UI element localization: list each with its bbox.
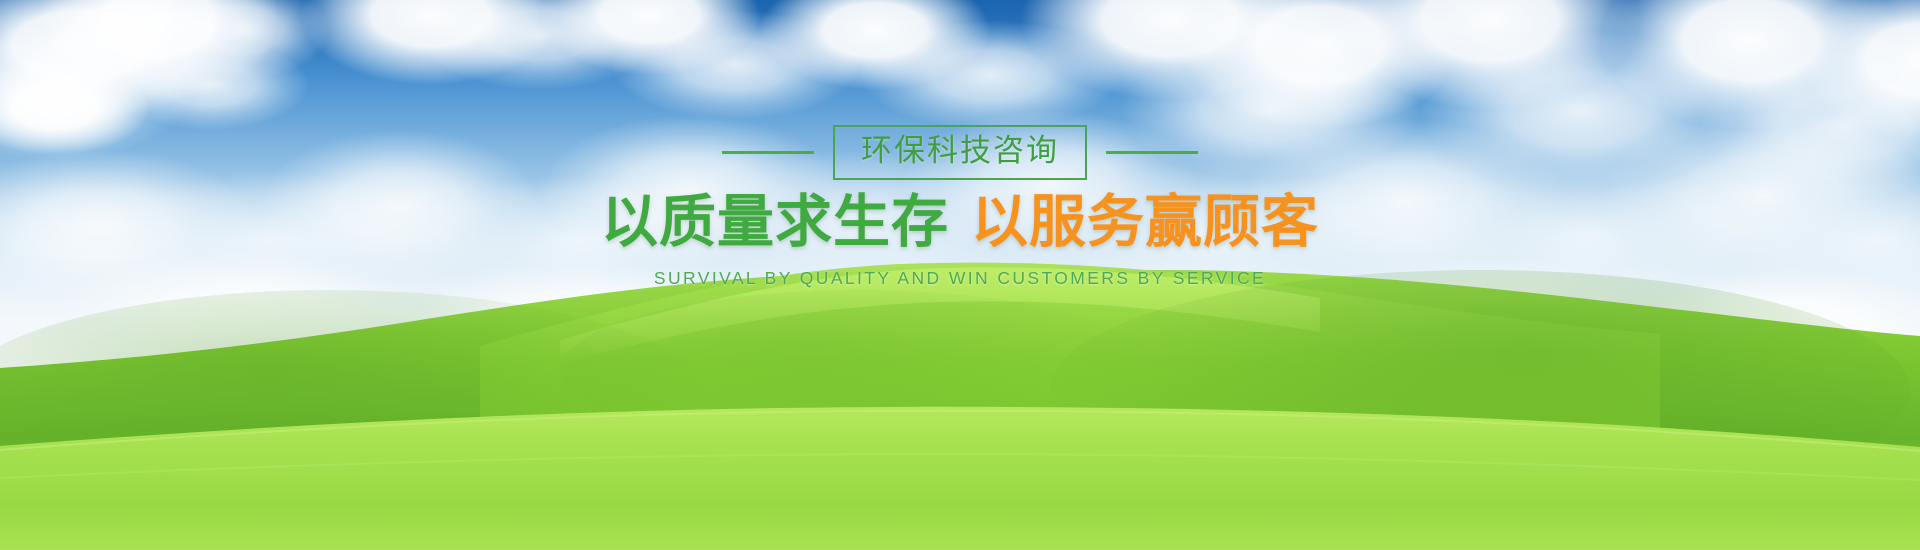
grass-landscape: [0, 250, 1920, 550]
hero-banner: 环保科技咨询 以质量求生存以服务赢顾客 SURVIVAL BY QUALITY …: [0, 0, 1920, 550]
grass-hills-svg: [0, 250, 1920, 550]
